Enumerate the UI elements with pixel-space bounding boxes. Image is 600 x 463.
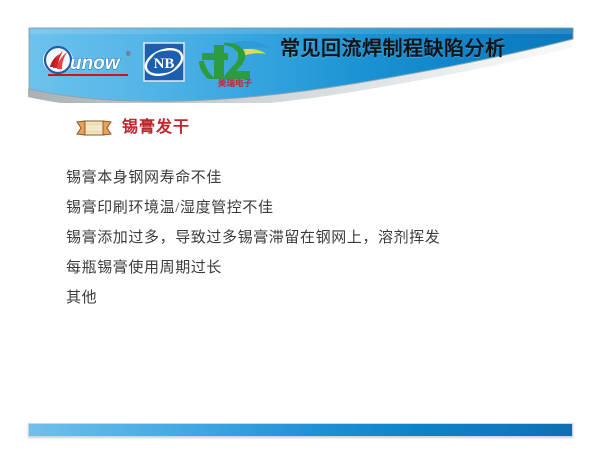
body-line: 每瓶锡膏使用周期过长	[66, 253, 566, 283]
body-line: 锡膏添加过多，导致过多锡膏滞留在钢网上，溶剂挥发	[66, 223, 566, 253]
svg-text:美瑞电子: 美瑞电子	[218, 78, 253, 87]
page-title: 常见回流焊制程缺陷分析	[280, 38, 560, 60]
slide-canvas: unow ® NB 美瑞电子 常见	[0, 0, 600, 463]
body-line: 其他	[66, 283, 566, 313]
subtitle-row: 锡膏发干	[76, 118, 190, 138]
logo-row: unow ® NB 美瑞电子	[42, 33, 276, 91]
body-content: 锡膏本身钢网寿命不佳 锡膏印刷环境温/湿度管控不佳 锡膏添加过多，导致过多锡膏滞…	[66, 163, 566, 313]
footer-bar	[28, 423, 573, 437]
body-line: 锡膏印刷环境温/湿度管控不佳	[66, 193, 566, 223]
subtitle-text: 锡膏发干	[122, 120, 190, 136]
scroll-banner-icon	[76, 118, 112, 138]
svg-text:unow: unow	[70, 53, 121, 74]
sunow-logo: unow ®	[42, 45, 134, 79]
svg-text:®: ®	[126, 51, 131, 58]
body-line: 锡膏本身钢网寿命不佳	[66, 163, 566, 193]
meirui-logo: 美瑞电子	[194, 37, 276, 87]
nb-logo: NB	[143, 42, 185, 82]
svg-text:NB: NB	[154, 56, 175, 72]
